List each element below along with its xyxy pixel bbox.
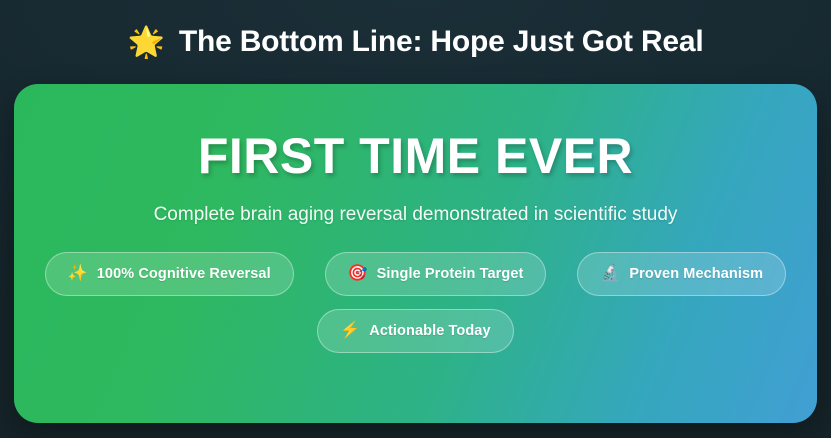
lightning-bolt-icon: ⚡ [340,323,360,339]
page-root: 🌟 The Bottom Line: Hope Just Got Real FI… [0,0,831,438]
feature-pill-cognitive-reversal[interactable]: ✨ 100% Cognitive Reversal [45,252,294,296]
sparkles-icon: ✨ [68,266,88,282]
feature-pill-row: ⚡ Actionable Today [317,309,513,353]
microscope-icon: 🔬 [600,266,620,282]
hero-card: FIRST TIME EVER Complete brain aging rev… [14,84,817,423]
glowing-star-icon: 🌟 [127,28,164,58]
feature-pill-label: Proven Mechanism [629,266,763,282]
feature-pill-label: 100% Cognitive Reversal [97,266,271,282]
hero-headline: FIRST TIME EVER [198,130,633,183]
feature-pill-proven-mechanism[interactable]: 🔬 Proven Mechanism [577,252,786,296]
feature-pill-group: ✨ 100% Cognitive Reversal 🎯 Single Prote… [14,252,817,353]
feature-pill-label: Actionable Today [369,323,490,339]
feature-pill-row: ✨ 100% Cognitive Reversal 🎯 Single Prote… [45,252,786,296]
feature-pill-single-protein-target[interactable]: 🎯 Single Protein Target [325,252,547,296]
target-icon: 🎯 [348,266,368,282]
hero-subtitle: Complete brain aging reversal demonstrat… [154,204,678,226]
page-title: The Bottom Line: Hope Just Got Real [179,25,704,59]
feature-pill-label: Single Protein Target [377,266,524,282]
page-header: 🌟 The Bottom Line: Hope Just Got Real [0,0,831,84]
feature-pill-actionable-today[interactable]: ⚡ Actionable Today [317,309,513,353]
